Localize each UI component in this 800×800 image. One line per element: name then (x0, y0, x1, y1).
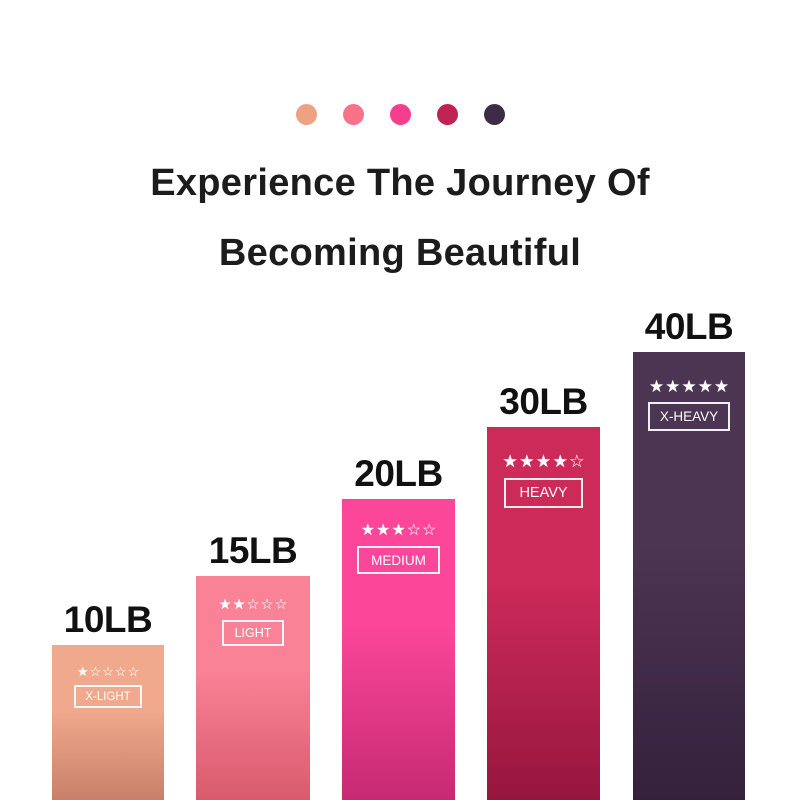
level-tag-x-heavy: X-HEAVY (648, 402, 730, 431)
bar-badge-x-heavy: ★★★★★X-HEAVY (633, 378, 745, 431)
star-empty-icon: ☆ (569, 453, 585, 471)
bar-badge-medium: ★★★☆☆MEDIUM (342, 523, 455, 574)
level-tag-light: LIGHT (222, 620, 285, 646)
bar-badge-light: ★★☆☆☆LIGHT (196, 598, 310, 646)
star-rating-x-light: ★☆☆☆☆ (77, 665, 139, 678)
star-rating-x-heavy: ★★★★★ (649, 378, 729, 395)
star-empty-icon: ☆ (407, 523, 421, 539)
star-filled-icon: ★ (698, 378, 713, 395)
bar-10lb: ★☆☆☆☆X-LIGHT (52, 645, 164, 800)
bar-badge-heavy: ★★★★☆HEAVY (487, 453, 600, 508)
bar-group-20lb[interactable]: 20LB★★★☆☆MEDIUM (342, 499, 455, 800)
star-filled-icon: ★ (552, 453, 568, 471)
bar-group-30lb[interactable]: 30LB★★★★☆HEAVY (487, 427, 600, 800)
bar-20lb: ★★★☆☆MEDIUM (342, 499, 455, 800)
star-filled-icon: ★ (376, 523, 390, 539)
star-rating-heavy: ★★★★☆ (502, 453, 585, 471)
star-empty-icon: ☆ (90, 665, 102, 678)
star-filled-icon: ★ (536, 453, 552, 471)
bar-weight-label-40lb: 40LB (645, 306, 733, 348)
star-empty-icon: ☆ (261, 598, 274, 613)
star-filled-icon: ★ (391, 523, 405, 539)
star-empty-icon: ☆ (127, 665, 139, 678)
star-filled-icon: ★ (361, 523, 375, 539)
star-filled-icon: ★ (714, 378, 729, 395)
star-filled-icon: ★ (502, 453, 518, 471)
bar-15lb: ★★☆☆☆LIGHT (196, 576, 310, 800)
star-filled-icon: ★ (519, 453, 535, 471)
star-empty-icon: ☆ (102, 665, 114, 678)
bar-badge-x-light: ★☆☆☆☆X-LIGHT (52, 665, 164, 708)
star-empty-icon: ☆ (275, 598, 288, 613)
star-filled-icon: ★ (219, 598, 232, 613)
level-tag-x-light: X-LIGHT (74, 685, 141, 708)
resistance-band-infographic: Experience The Journey Of Becoming Beaut… (0, 0, 800, 800)
star-filled-icon: ★ (681, 378, 696, 395)
star-rating-light: ★★☆☆☆ (219, 598, 288, 613)
resistance-level-bar-chart: 10LB★☆☆☆☆X-LIGHT15LB★★☆☆☆LIGHT20LB★★★☆☆M… (0, 0, 800, 800)
star-filled-icon: ★ (233, 598, 246, 613)
bar-40lb: ★★★★★X-HEAVY (633, 352, 745, 800)
bar-weight-label-20lb: 20LB (354, 453, 442, 495)
star-rating-medium: ★★★☆☆ (361, 523, 437, 539)
star-filled-icon: ★ (665, 378, 680, 395)
bar-group-10lb[interactable]: 10LB★☆☆☆☆X-LIGHT (52, 645, 164, 800)
bar-weight-label-10lb: 10LB (64, 599, 152, 641)
bar-group-15lb[interactable]: 15LB★★☆☆☆LIGHT (196, 576, 310, 800)
star-filled-icon: ★ (649, 378, 664, 395)
star-empty-icon: ☆ (422, 523, 436, 539)
bar-weight-label-30lb: 30LB (499, 381, 587, 423)
level-tag-medium: MEDIUM (357, 546, 440, 574)
star-empty-icon: ☆ (115, 665, 127, 678)
level-tag-heavy: HEAVY (504, 478, 582, 508)
bar-30lb: ★★★★☆HEAVY (487, 427, 600, 800)
bar-group-40lb[interactable]: 40LB★★★★★X-HEAVY (633, 352, 745, 800)
star-empty-icon: ☆ (247, 598, 260, 613)
star-filled-icon: ★ (77, 665, 89, 678)
bar-weight-label-15lb: 15LB (209, 530, 297, 572)
